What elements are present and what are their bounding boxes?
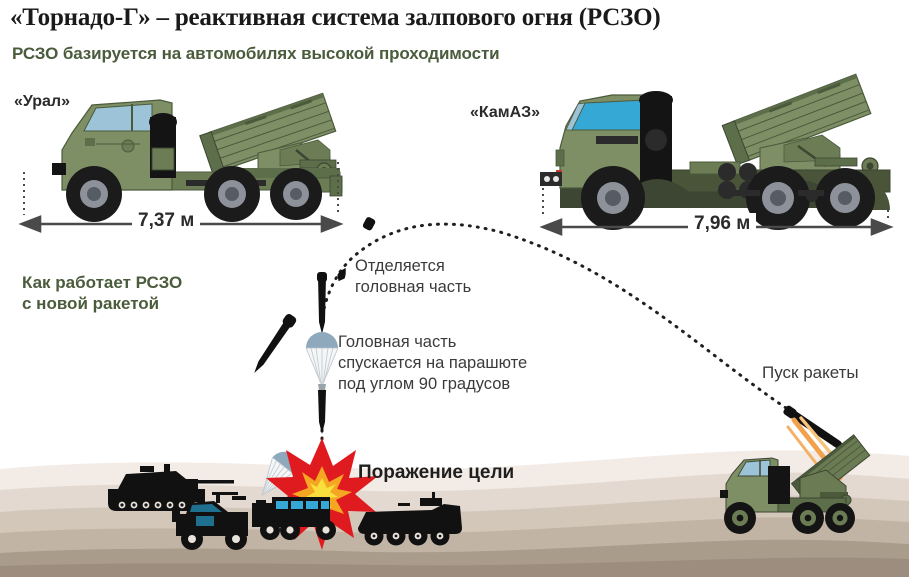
annotation-parachute-line-1: Головная часть xyxy=(338,332,527,353)
annotation-launch: Пуск ракеты xyxy=(762,362,859,383)
launcher-truck-illustration xyxy=(720,435,870,534)
annotation-separation-line-2: головная часть xyxy=(355,277,471,298)
howto-heading: Как работает РСЗО с новой ракетой xyxy=(22,272,182,314)
howto-line-2: с новой ракетой xyxy=(22,293,182,314)
annotation-parachute-line-3: под углом 90 градусов xyxy=(338,374,527,395)
annotation-parachute: Головная часть спускается на парашюте по… xyxy=(338,332,527,395)
apc-silhouette xyxy=(358,492,462,546)
annotation-target-hit: Поражение цели xyxy=(358,462,514,484)
annotation-parachute-line-2: спускается на парашюте xyxy=(338,353,527,374)
target-truck-silhouette xyxy=(252,497,336,540)
infographic-canvas: «Торнадо-Г» – реактивная система залпово… xyxy=(0,0,909,577)
annotation-separation: Отделяется головная часть xyxy=(355,256,471,298)
annotation-separation-line-1: Отделяется xyxy=(355,256,471,277)
howto-line-1: Как работает РСЗО xyxy=(22,272,182,293)
